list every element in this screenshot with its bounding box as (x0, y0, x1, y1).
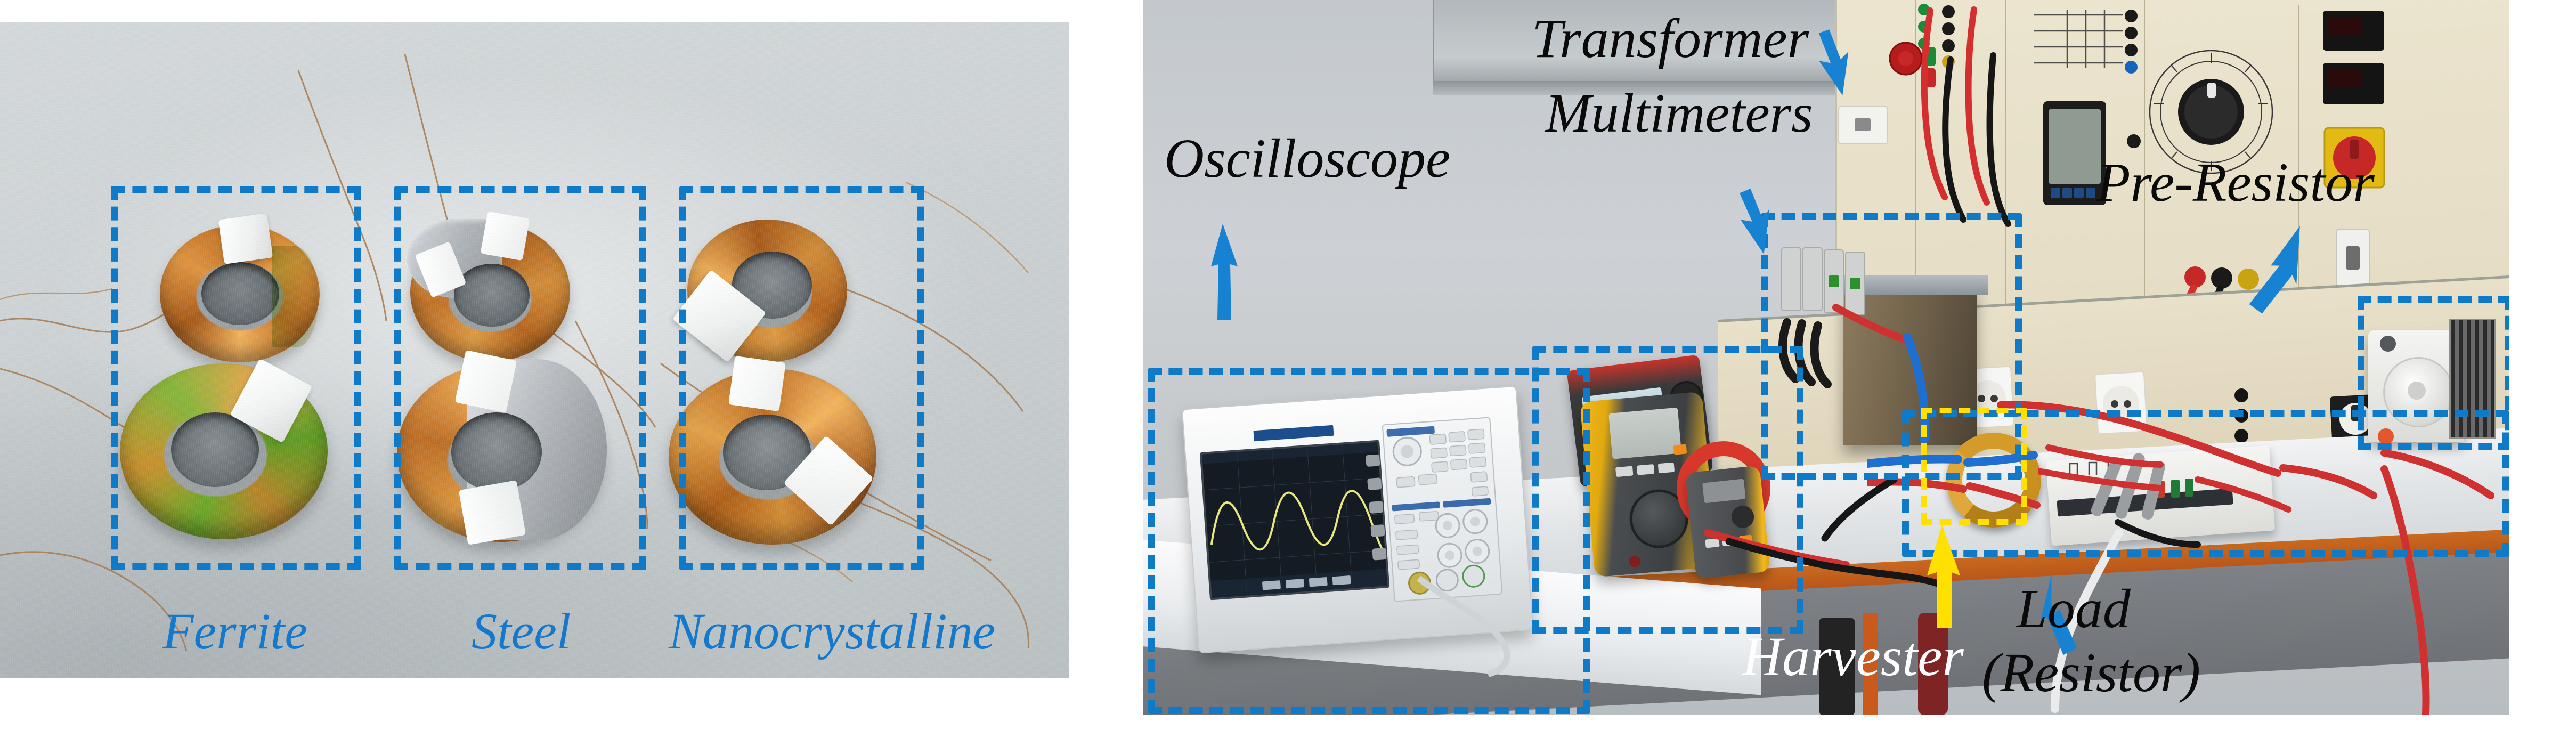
caption-steel: Steel (472, 606, 571, 657)
figure-root: Ferrite Steel Nanocrystalline (0, 0, 2576, 738)
label-transformer: Transformer (1532, 11, 1809, 67)
group-box-ferrite (111, 186, 361, 570)
caption-ferrite: Ferrite (162, 606, 307, 657)
label-multimeters: Multimeters (1545, 85, 1813, 142)
arrow-harvester (1927, 525, 1960, 628)
label-harvester: Harvester (1742, 629, 1964, 685)
group-box-steel (394, 186, 646, 570)
label-oscilloscope: Oscilloscope (1164, 131, 1450, 187)
magnetic-core-samples-photo: Ferrite Steel Nanocrystalline (0, 22, 1069, 678)
annotation-arrows (1143, 0, 2509, 715)
label-pre-resistor: Pre-Resistor (2096, 155, 2375, 211)
arrow-oscilloscope (1211, 224, 1238, 320)
label-load-resistor-sub: (Resistor) (1982, 645, 2200, 701)
laboratory-test-bench-photo: Transformer Multimeters Oscilloscope Pre… (1143, 0, 2509, 715)
label-load: Load (2017, 581, 2131, 637)
caption-nanocrystalline: Nanocrystalline (669, 606, 995, 657)
arrow-multimeters (1727, 186, 1778, 254)
group-box-nanocrystalline (679, 186, 924, 570)
arrow-pre-resistor (2241, 226, 2309, 315)
